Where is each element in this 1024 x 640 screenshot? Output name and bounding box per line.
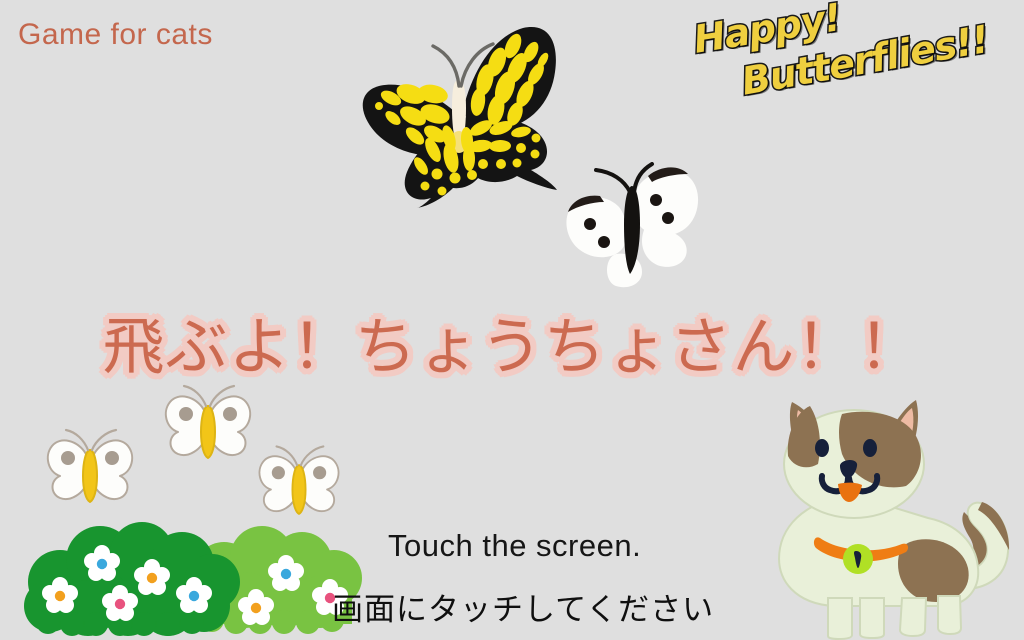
- game-screen[interactable]: Game for cats Happy! Butterflies!!: [0, 0, 1024, 640]
- flower-bushes: [14, 516, 364, 640]
- happy-butterflies-logo: Happy! Butterflies!!: [676, 8, 1024, 104]
- cabbage-butterfly-icon: [552, 162, 712, 290]
- page-title: 飛ぶよ！ちょうちょさん！！: [0, 296, 1024, 386]
- small-white-butterfly-left-icon: [42, 428, 138, 510]
- touch-prompt-japanese: 画面にタッチしてください: [332, 584, 714, 629]
- small-white-butterfly-middle-icon: [160, 384, 256, 466]
- swallowtail-butterfly-icon: [345, 18, 570, 208]
- game-for-cats-label: Game for cats: [18, 18, 213, 52]
- cat-illustration: [760, 392, 1024, 640]
- small-white-butterfly-right-icon: [254, 444, 344, 522]
- touch-prompt-english: Touch the screen.: [388, 528, 641, 564]
